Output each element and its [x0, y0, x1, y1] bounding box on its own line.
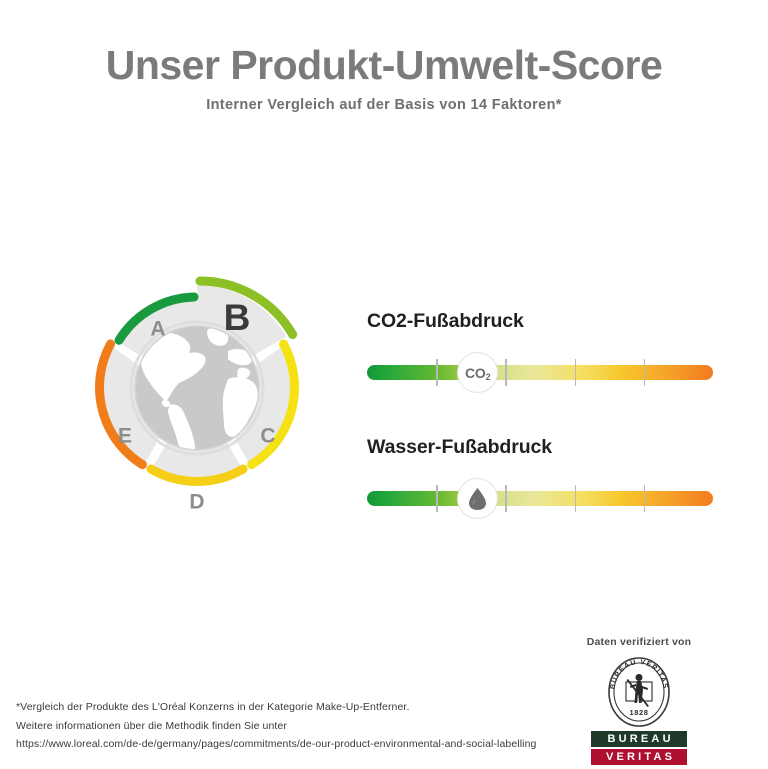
footnote: *Vergleich der Produkte des L'Oréal Konz…: [16, 698, 616, 754]
water-footprint-title: Wasser-Fußabdruck: [367, 436, 717, 459]
co2-icon: CO2: [465, 365, 490, 381]
page-title: Unser Produkt-Umwelt-Score: [0, 44, 768, 87]
footnote-line-2: Weitere informationen über die Methodik …: [16, 717, 616, 736]
water-scale-tick-3: [575, 485, 577, 512]
score-grade-letter-d: D: [189, 491, 204, 514]
water-scale-tick-1: [436, 485, 438, 512]
footprints-section: CO2-Fußabdruck CO2 Wasser-Fußabdruck: [367, 310, 717, 519]
water-scale-marker[interactable]: [457, 478, 498, 519]
footnote-line-3[interactable]: https://www.loreal.com/de-de/germany/pag…: [16, 735, 616, 754]
score-grade-letter-c: C: [260, 425, 275, 448]
co2-footprint-block: CO2-Fußabdruck CO2: [367, 310, 717, 393]
co2-scale-tick-4: [644, 359, 646, 386]
water-footprint-scale[interactable]: [367, 479, 713, 519]
co2-footprint-scale[interactable]: CO2: [367, 353, 713, 393]
page-subtitle: Interner Vergleich auf der Basis von 14 …: [0, 97, 768, 113]
score-wheel: A B C D E: [42, 233, 352, 543]
svg-text:1828: 1828: [629, 708, 648, 717]
globe-icon: [131, 322, 263, 457]
co2-footprint-title: CO2-Fußabdruck: [367, 310, 717, 333]
water-scale-tick-2: [505, 485, 507, 512]
footnote-line-1: *Vergleich der Produkte des L'Oréal Konz…: [16, 698, 616, 717]
score-grade-letter-e: E: [118, 425, 132, 448]
co2-scale-tick-3: [575, 359, 577, 386]
water-scale-tick-4: [644, 485, 646, 512]
water-drop-icon: [468, 487, 487, 511]
verified-by-label: Daten verifiziert von: [554, 636, 724, 648]
water-footprint-block: Wasser-Fußabdruck: [367, 436, 717, 519]
score-grade-letter-a: A: [150, 318, 165, 341]
score-grade-letter-b: B: [224, 297, 251, 338]
water-scale-gradient-bar: [367, 491, 713, 506]
co2-scale-tick-2: [505, 359, 507, 386]
co2-scale-marker[interactable]: CO2: [457, 352, 498, 393]
co2-scale-tick-1: [436, 359, 438, 386]
header: Unser Produkt-Umwelt-Score Interner Verg…: [0, 44, 768, 113]
co2-scale-gradient-bar: [367, 365, 713, 380]
